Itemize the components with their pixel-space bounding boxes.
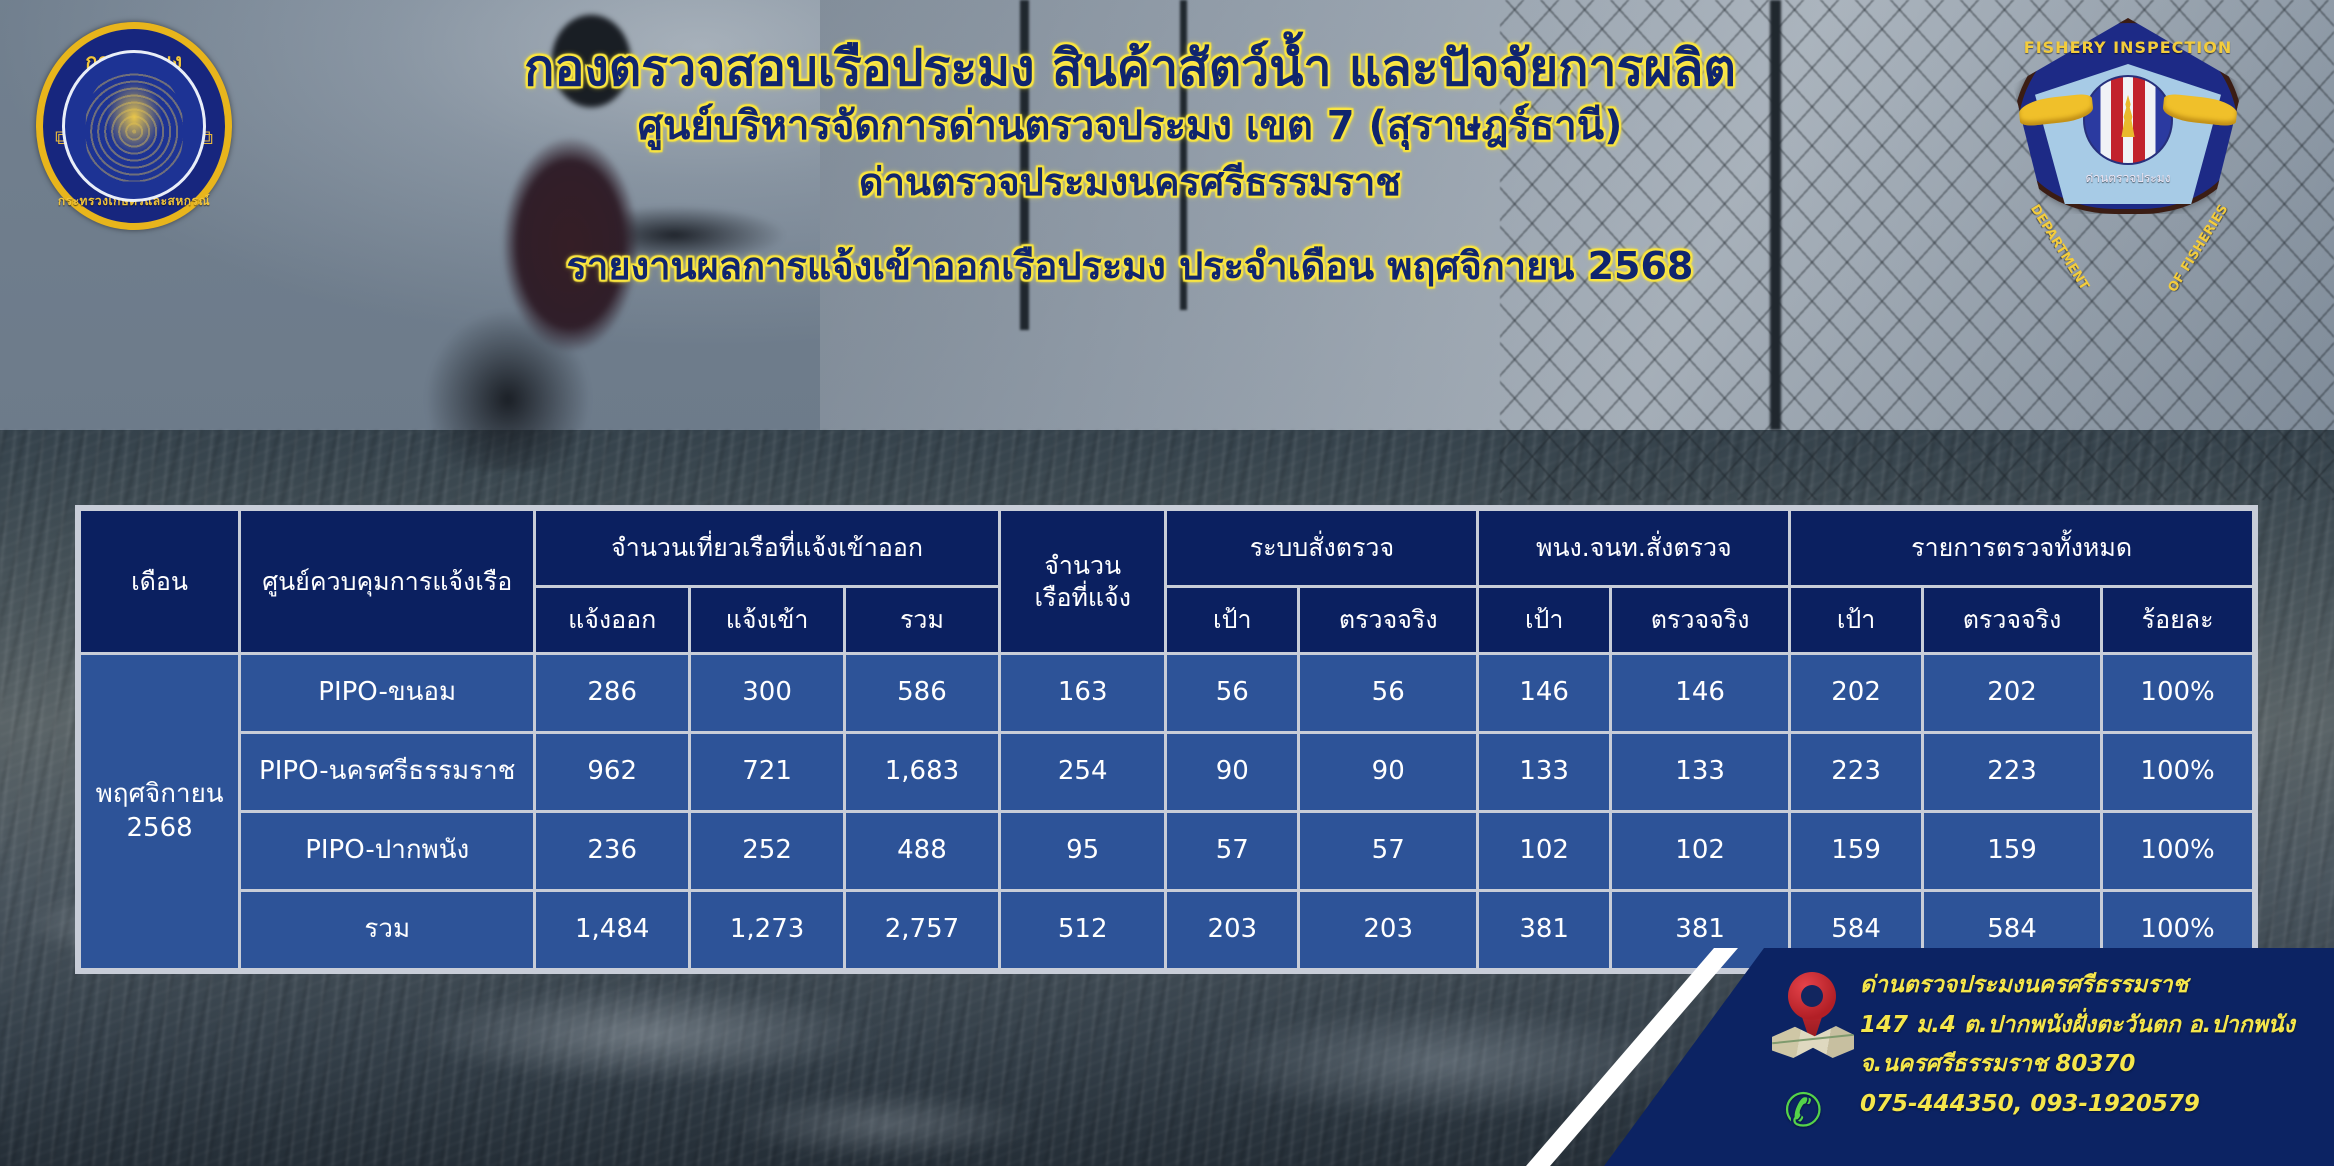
cell-off-actual: 146 (1612, 655, 1788, 731)
cell-out: 236 (536, 813, 688, 889)
badge-top-label: FISHERY INSPECTION (2013, 38, 2243, 57)
phone-icon: ✆ (1784, 1084, 1836, 1136)
month-name: พฤศจิกายน (96, 779, 224, 809)
th-total-group: รายการตรวจทั้งหมด (1791, 511, 2252, 585)
th-system-group: ระบบสั่งตรวจ (1167, 511, 1476, 585)
map-pin-hole (1801, 985, 1823, 1007)
cell-sum: 2,757 (846, 892, 998, 968)
table-row: PIPO-นครศรีธรรมราช 962 721 1,683 254 90 … (81, 734, 2252, 810)
th-in: แจ้งเข้า (691, 588, 843, 652)
cell-out: 1,484 (536, 892, 688, 968)
footer-address-block: ด่านตรวจประมงนครศรีธรรมราช 147 ม.4 ต.ปาก… (1860, 966, 2310, 1124)
cell-in: 252 (691, 813, 843, 889)
table-row: พฤศจิกายน 2568 PIPO-ขนอม 286 300 586 163… (81, 655, 2252, 731)
month-year: 2568 (127, 813, 193, 843)
header-line-3: ด่านตรวจประมงนครศรีธรรมราช (250, 161, 2010, 204)
report-table: เดือน ศูนย์ควบคุมการแจ้งเรือ จำนวนเที่ยว… (75, 505, 2258, 974)
badge-sub-label: ด่านตรวจประมง (2013, 169, 2243, 188)
cell-vessels: 254 (1001, 734, 1165, 810)
cell-off-target: 381 (1479, 892, 1609, 968)
report-title: รายงานผลการแจ้งเข้าออกเรือประมง ประจำเดื… (250, 245, 2010, 288)
th-vessels-group: จำนวน เรือที่แจ้ง (1001, 511, 1165, 652)
cell-out: 286 (536, 655, 688, 731)
report-table-wrapper: เดือน ศูนย์ควบคุมการแจ้งเรือ จำนวนเที่ยว… (75, 505, 2258, 974)
header-text-block: กองตรวจสอบเรือประมง สินค้าสัตว์น้ำ และปั… (250, 40, 2010, 288)
th-percent: ร้อยละ (2103, 588, 2252, 652)
cell-sys-target: 56 (1167, 655, 1297, 731)
th-month: เดือน (81, 511, 238, 652)
cell-off-actual: 133 (1612, 734, 1788, 810)
cell-center: PIPO-ขนอม (241, 655, 533, 731)
th-center: ศูนย์ควบคุมการแจ้งเรือ (241, 511, 533, 652)
cell-tot-actual: 223 (1924, 734, 2100, 810)
cell-tot-actual: 159 (1924, 813, 2100, 889)
seal-emblem-icon (86, 71, 183, 182)
th-trips-group: จำนวนเที่ยวเรือที่แจ้งเข้าออก (536, 511, 998, 585)
cell-sys-actual: 90 (1300, 734, 1476, 810)
cell-percent: 100% (2103, 655, 2252, 731)
cell-sys-target: 57 (1167, 813, 1297, 889)
th-out: แจ้งออก (536, 588, 688, 652)
cell-vessels: 163 (1001, 655, 1165, 731)
footer-content: ✆ ด่านตรวจประมงนครศรีธรรมราช 147 ม.4 ต.ป… (1750, 962, 2310, 1152)
department-of-fisheries-seal-icon: กรมประมง ⧉ ⧉ กระทรวงเกษตรและสหกรณ์ (36, 22, 232, 230)
cell-month: พฤศจิกายน 2568 (81, 655, 238, 968)
cell-sys-target: 203 (1167, 892, 1297, 968)
header-line-1: กองตรวจสอบเรือประมง สินค้าสัตว์น้ำ และปั… (250, 40, 2010, 96)
cell-tot-target: 223 (1791, 734, 1921, 810)
cell-vessels: 512 (1001, 892, 1165, 968)
cell-sum: 1,683 (846, 734, 998, 810)
cell-in: 300 (691, 655, 843, 731)
cell-sys-actual: 57 (1300, 813, 1476, 889)
cell-tot-target: 159 (1791, 813, 1921, 889)
cell-in: 721 (691, 734, 843, 810)
th-sum: รวม (846, 588, 998, 652)
seal-inner-disc (62, 50, 206, 202)
cell-sys-actual: 203 (1300, 892, 1476, 968)
cell-sum: 488 (846, 813, 998, 889)
footer-line-3: จ.นครศรีธรรมราช 80370 (1860, 1045, 2310, 1085)
footer-line-4: 075-444350, 093-1920579 (1860, 1085, 2310, 1125)
cell-off-target: 102 (1479, 813, 1609, 889)
cell-tot-actual: 202 (1924, 655, 2100, 731)
footer-line-1: ด่านตรวจประมงนครศรีธรรมราช (1860, 966, 2310, 1006)
cell-off-actual: 102 (1612, 813, 1788, 889)
th-officer-group: พนง.จนท.สั่งตรวจ (1479, 511, 1788, 585)
th-off-target: เป้า (1479, 588, 1609, 652)
cell-center-total: รวม (241, 892, 533, 968)
cell-tot-target: 202 (1791, 655, 1921, 731)
th-vessels-line1: จำนวน (1044, 551, 1121, 580)
th-vessels-line2: เรือที่แจ้ง (1034, 583, 1130, 612)
th-tot-target: เป้า (1791, 588, 1921, 652)
cell-percent: 100% (2103, 813, 2252, 889)
cell-sys-target: 90 (1167, 734, 1297, 810)
cell-center: PIPO-ปากพนัง (241, 813, 533, 889)
th-sys-actual: ตรวจจริง (1300, 588, 1476, 652)
cell-percent: 100% (2103, 734, 2252, 810)
th-off-actual: ตรวจจริง (1612, 588, 1788, 652)
table-row: PIPO-ปากพนัง 236 252 488 95 57 57 102 10… (81, 813, 2252, 889)
cell-center: PIPO-นครศรีธรรมราช (241, 734, 533, 810)
th-tot-actual: ตรวจจริง (1924, 588, 2100, 652)
cell-sum: 586 (846, 655, 998, 731)
th-sys-target: เป้า (1167, 588, 1297, 652)
cell-sys-actual: 56 (1300, 655, 1476, 731)
fishery-inspection-badge-icon: FISHERY INSPECTION DEPARTMENT OF FISHERI… (2013, 18, 2243, 214)
cell-out: 962 (536, 734, 688, 810)
table-header-row-top: เดือน ศูนย์ควบคุมการแจ้งเรือ จำนวนเที่ยว… (81, 511, 2252, 585)
header-line-2: ศูนย์บริหารจัดการด่านตรวจประมง เขต 7 (สุ… (250, 104, 2010, 149)
cell-vessels: 95 (1001, 813, 1165, 889)
cell-off-target: 133 (1479, 734, 1609, 810)
infographic-canvas: กรมประมง ⧉ ⧉ กระทรวงเกษตรและสหกรณ์ FISHE… (0, 0, 2334, 1166)
cell-in: 1,273 (691, 892, 843, 968)
cell-off-target: 146 (1479, 655, 1609, 731)
footer-line-2: 147 ม.4 ต.ปากพนังฝั่งตะวันตก อ.ปากพนัง (1860, 1006, 2310, 1046)
